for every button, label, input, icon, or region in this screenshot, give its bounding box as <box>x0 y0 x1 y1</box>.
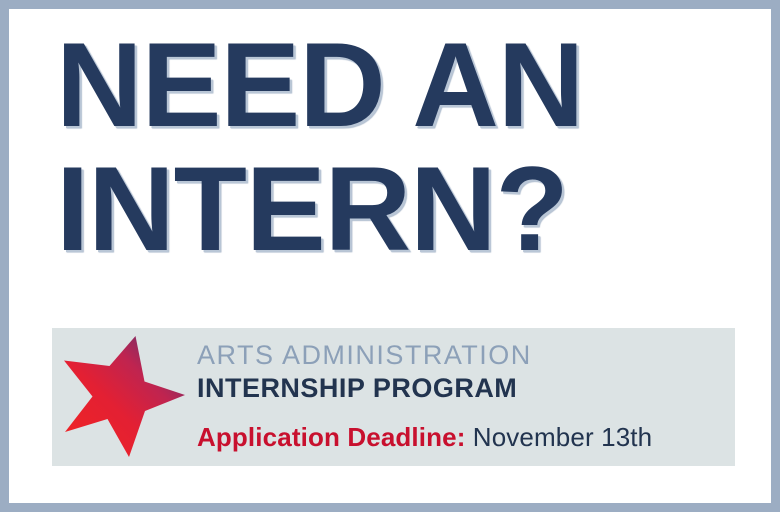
headline: NEED AN INTERN? <box>56 27 756 268</box>
headline-line-1: NEED AN <box>56 27 756 143</box>
poster-canvas: NEED AN INTERN? <box>9 9 771 503</box>
program-name-line-1: ARTS ADMINISTRATION <box>197 340 729 372</box>
poster-graphic: NEED AN INTERN? <box>0 0 780 512</box>
program-name-line-2: INTERNSHIP PROGRAM <box>197 372 729 404</box>
deadline-date: November 13th <box>473 422 652 452</box>
program-info-band: ARTS ADMINISTRATION INTERNSHIP PROGRAM A… <box>52 328 735 466</box>
program-text-block: ARTS ADMINISTRATION INTERNSHIP PROGRAM A… <box>197 340 729 452</box>
headline-line-2: INTERN? <box>56 151 756 267</box>
deadline-label: Application Deadline: <box>197 422 466 452</box>
star-icon <box>59 333 187 461</box>
deadline-line: Application Deadline: November 13th <box>197 423 729 452</box>
